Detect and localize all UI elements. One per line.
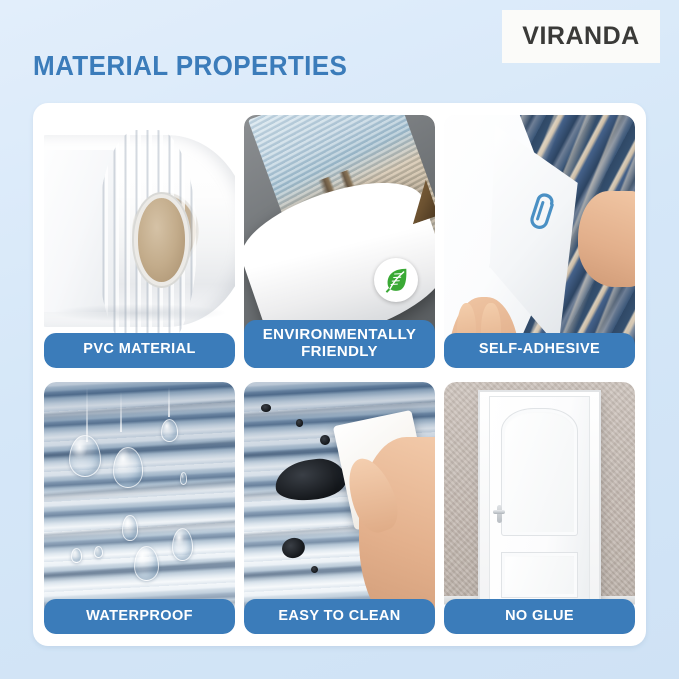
pvc-roll-image: [44, 115, 235, 368]
feature-card-easy-to-clean[interactable]: EASY TO CLEAN: [244, 382, 435, 635]
water-droplet: [172, 528, 193, 561]
feature-label-text: PVC MATERIAL: [83, 342, 195, 358]
water-droplet: [71, 548, 82, 563]
feature-label-waterproof: WATERPROOF: [44, 599, 235, 634]
waterproof-image: [44, 382, 235, 635]
pvc-cardboard-core: [138, 198, 186, 281]
water-droplet: [180, 472, 188, 485]
dirt-mark: [296, 419, 304, 427]
pvc-shadow: [52, 304, 228, 322]
page-title: MATERIAL PROPERTIES: [33, 50, 347, 82]
self-adhesive-image: [444, 115, 635, 368]
brand-name: VIRANDA: [522, 22, 639, 51]
feature-label-text: EASY TO CLEAN: [278, 609, 400, 625]
water-droplet: [94, 546, 104, 559]
feature-panel: PVC MATERIAL: [33, 103, 646, 646]
feature-label-text: NO GLUE: [505, 609, 574, 625]
water-droplet: [113, 447, 144, 487]
dirt-mark: [261, 404, 271, 412]
handle-lever: [493, 510, 505, 514]
handle-plate: [497, 505, 501, 524]
easy-to-clean-image: [244, 382, 435, 635]
water-droplet: [134, 546, 159, 581]
water-drip-trail: [86, 387, 88, 443]
feature-label-text: ENVIRONMENTALLY FRIENDLY: [263, 327, 417, 359]
leaf-icon: [374, 258, 418, 302]
door-handle-icon: [493, 505, 506, 524]
feature-card-pvc-material[interactable]: PVC MATERIAL: [44, 115, 235, 368]
door-panel-top: [501, 408, 579, 536]
dirt-mark: [320, 435, 330, 445]
feature-grid: PVC MATERIAL: [44, 115, 635, 634]
feature-label-environmentally-friendly: ENVIRONMENTALLY FRIENDLY: [244, 320, 435, 368]
feature-card-self-adhesive[interactable]: SELF-ADHESIVE: [444, 115, 635, 368]
feature-card-waterproof[interactable]: WATERPROOF: [44, 382, 235, 635]
no-glue-image: [444, 382, 635, 635]
water-droplet: [161, 419, 178, 442]
water-drip-trail: [120, 392, 122, 432]
water-droplet: [122, 515, 137, 540]
feature-label-easy-to-clean: EASY TO CLEAN: [244, 599, 435, 634]
feature-label-text: WATERPROOF: [86, 609, 193, 625]
feature-card-environmentally-friendly[interactable]: ENVIRONMENTALLY FRIENDLY: [244, 115, 435, 368]
right-hand: [578, 191, 635, 287]
brand-badge: VIRANDA: [502, 10, 660, 63]
feature-label-self-adhesive: SELF-ADHESIVE: [444, 333, 635, 368]
feature-label-line-2: FRIENDLY: [301, 343, 378, 360]
feature-label-pvc-material: PVC MATERIAL: [44, 333, 235, 368]
feature-label-line-1: ENVIRONMENTALLY: [263, 326, 417, 343]
feature-label-no-glue: NO GLUE: [444, 599, 635, 634]
door-frame: [480, 392, 598, 609]
door-leaf: [489, 396, 591, 604]
water-drip-trail: [168, 387, 170, 417]
feature-card-no-glue[interactable]: NO GLUE: [444, 382, 635, 635]
door-panel-bottom: [501, 552, 579, 597]
blue-wood-texture: [44, 382, 235, 635]
feature-label-text: SELF-ADHESIVE: [479, 342, 600, 358]
